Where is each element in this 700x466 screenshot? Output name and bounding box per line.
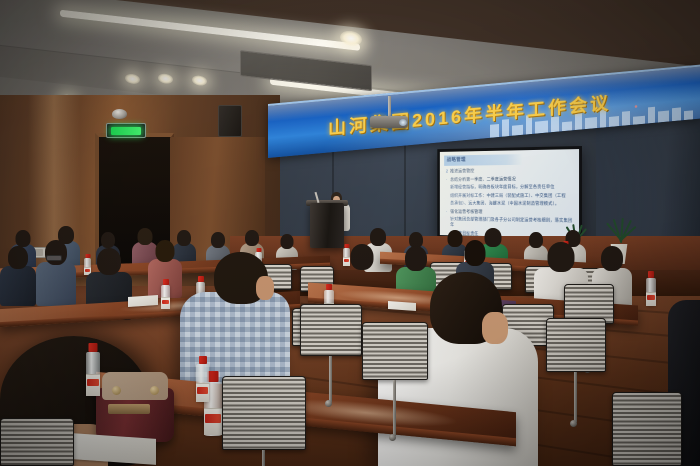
- attendee-with-glasses: [36, 240, 76, 306]
- mesh-chair[interactable]: [612, 392, 682, 466]
- handbag[interactable]: [96, 372, 174, 442]
- notepad: [128, 295, 158, 307]
- mesh-chair[interactable]: [300, 304, 362, 356]
- security-camera-icon: [112, 109, 127, 119]
- emergency-exit-sign-icon: [106, 123, 146, 138]
- projector-mount-pole: [388, 96, 391, 118]
- eyeglasses-icon: [46, 255, 62, 261]
- podium: [310, 203, 344, 248]
- wall-speaker-icon: [218, 105, 242, 137]
- water-bottle[interactable]: [196, 364, 209, 402]
- mesh-chair[interactable]: [362, 322, 428, 380]
- mesh-chair[interactable]: [0, 418, 74, 466]
- attendee: [0, 246, 36, 306]
- projector-lens-icon: [399, 119, 407, 126]
- water-bottle[interactable]: [646, 278, 656, 306]
- attendee-checkered-shirt: [168, 252, 288, 392]
- conference-room-photo: 山河集团2016年半年工作会议 战略管理 2 推进运营管控 · 总结分析第一季度…: [0, 0, 700, 466]
- water-bottle[interactable]: [86, 352, 100, 396]
- mesh-chair[interactable]: [222, 376, 306, 450]
- mesh-chair[interactable]: [546, 318, 606, 372]
